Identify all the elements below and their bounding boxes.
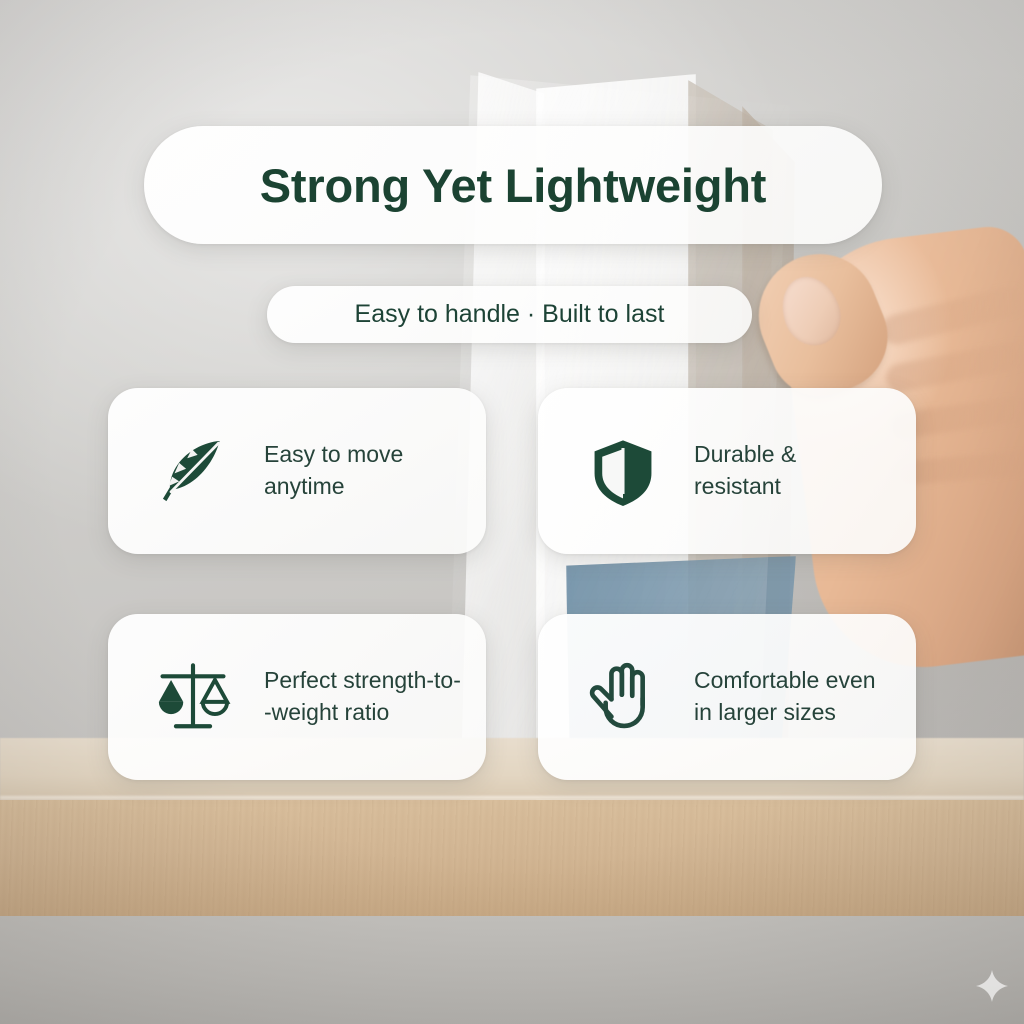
open-hand-icon: [580, 654, 666, 740]
subtitle-pill: Easy to handle · Built to last: [267, 286, 752, 343]
scales-icon: [150, 654, 236, 740]
feature-card-easy-to-move[interactable]: Easy to move anytime: [108, 388, 486, 554]
feature-label: Comfortable even in larger sizes: [694, 665, 876, 728]
feature-label: Durable & resistant: [694, 439, 796, 502]
feature-label: Perfect strength-to- -weight ratio: [264, 665, 461, 728]
page-subtitle: Easy to handle · Built to last: [355, 300, 665, 329]
promo-infographic: Strong Yet Lightweight Easy to handle · …: [0, 0, 1024, 1024]
page-title: Strong Yet Lightweight: [260, 158, 767, 213]
feature-card-strength-ratio[interactable]: Perfect strength-to- -weight ratio: [108, 614, 486, 780]
feature-label: Easy to move anytime: [264, 439, 403, 502]
feather-icon: [150, 428, 236, 514]
title-pill: Strong Yet Lightweight: [144, 126, 882, 244]
feature-card-comfort[interactable]: Comfortable even in larger sizes: [538, 614, 916, 780]
feature-card-durable[interactable]: Durable & resistant: [538, 388, 916, 554]
sparkle-icon: [974, 968, 1010, 1004]
shield-icon: [580, 428, 666, 514]
